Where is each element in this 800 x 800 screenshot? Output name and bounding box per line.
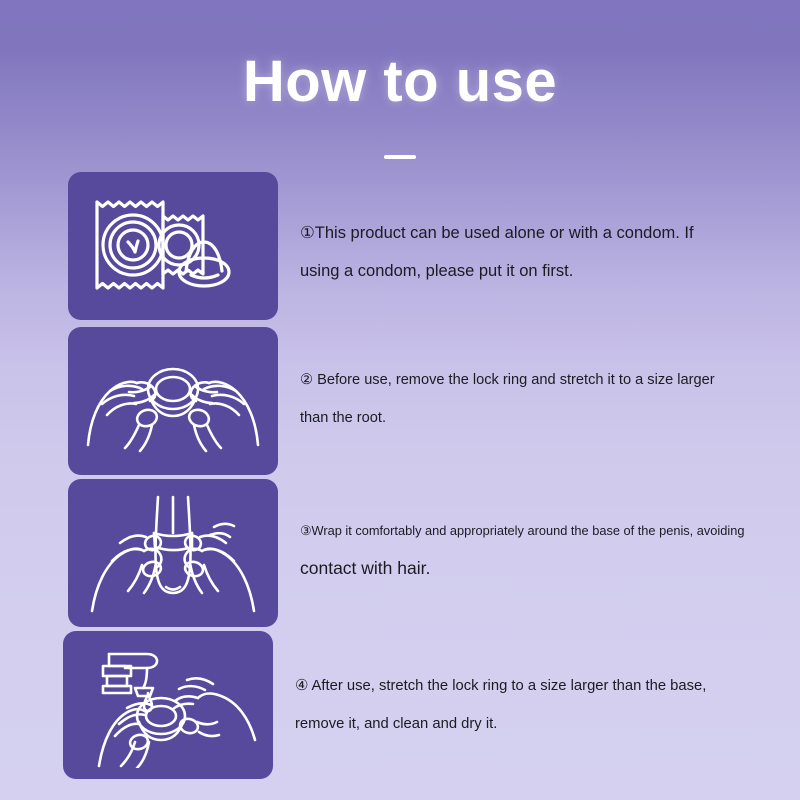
step-item-3: ③Wrap it comfortably and appropriately a… xyxy=(0,479,800,631)
step-4-line-2: remove it, and clean and dry it. xyxy=(295,705,756,743)
step-4-illustration-panel xyxy=(63,631,273,779)
step-4-line-1: ④ After use, stretch the lock ring to a … xyxy=(295,667,756,705)
page-title: How to use xyxy=(0,52,800,113)
faucet-washing-ring-icon xyxy=(73,642,263,768)
hands-stretching-ring-icon xyxy=(80,341,266,461)
step-1-line-2: using a condom, please put it on first. xyxy=(300,252,756,290)
step-2-text: ② Before use, remove the lock ring and s… xyxy=(278,327,800,437)
step-2-line-2: than the root. xyxy=(300,399,756,437)
step-2-line-1: ② Before use, remove the lock ring and s… xyxy=(300,361,756,399)
step-item-1: ①This product can be used alone or with … xyxy=(0,172,800,327)
step-3-line-2: contact with hair. xyxy=(300,549,756,587)
step-1-illustration-panel xyxy=(68,172,278,320)
step-3-illustration-panel xyxy=(68,479,278,627)
step-item-2: ② Before use, remove the lock ring and s… xyxy=(0,327,800,479)
hands-placing-ring-icon xyxy=(80,491,266,615)
step-1-text: ①This product can be used alone or with … xyxy=(278,172,800,290)
step-3-line-1: ③Wrap it comfortably and appropriately a… xyxy=(300,513,756,549)
step-3-text: ③Wrap it comfortably and appropriately a… xyxy=(278,479,800,587)
condom-packets-icon xyxy=(87,186,259,306)
step-item-4: ④ After use, stretch the lock ring to a … xyxy=(0,631,800,783)
step-4-text: ④ After use, stretch the lock ring to a … xyxy=(273,631,800,743)
step-2-illustration-panel xyxy=(68,327,278,475)
title-divider xyxy=(384,155,416,159)
step-1-line-1: ①This product can be used alone or with … xyxy=(300,214,756,252)
page-header: How to use xyxy=(0,52,800,159)
how-to-use-page: How to use xyxy=(0,0,800,800)
steps-list: ①This product can be used alone or with … xyxy=(0,172,800,783)
